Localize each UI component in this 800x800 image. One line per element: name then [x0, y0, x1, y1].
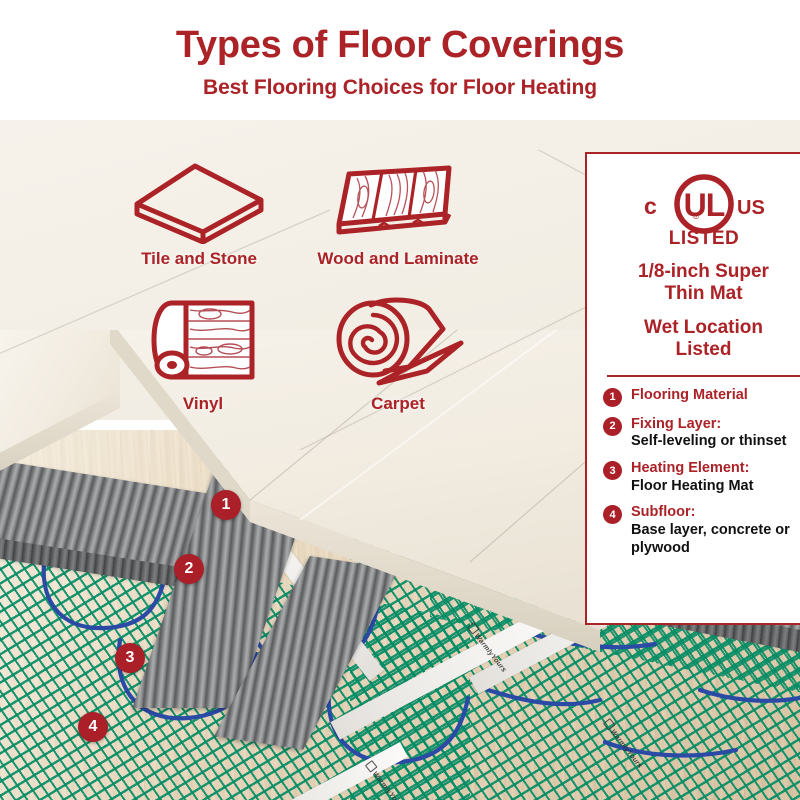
ul-letters: UL — [683, 187, 724, 223]
legend-heading: Fixing Layer: — [631, 416, 800, 434]
ul-listed-mark-wrap: c UL ® US LISTED — [603, 172, 800, 253]
badge-1-flooring-material: 1 — [211, 490, 241, 520]
legend-number-badge: 4 — [603, 505, 622, 524]
flooring-type-wood-and-laminate[interactable]: Wood and Laminate — [300, 160, 496, 269]
legend-item-1: 1 Flooring Material — [603, 387, 800, 407]
flooring-type-tile-and-stone[interactable]: Tile and Stone — [118, 160, 280, 269]
legend-heading: Heating Element: — [631, 460, 800, 478]
legend-description: Floor Heating Mat — [631, 478, 800, 496]
badge-3-heating-element: 3 — [115, 643, 145, 673]
panel-heading-line: Listed — [676, 339, 732, 360]
legend-item-3: 3 Heating Element: Floor Heating Mat — [603, 460, 800, 495]
panel-divider — [607, 375, 800, 377]
legend-heading: Flooring Material — [631, 387, 800, 405]
page-subtitle: Best Flooring Choices for Floor Heating — [0, 76, 800, 99]
ul-c-mark: c — [644, 193, 657, 219]
legend-description: Base layer, concrete or plywood — [631, 522, 800, 557]
infographic-root: WarmlyYours WarmlyYours WarmlyYours Warm… — [0, 0, 800, 800]
legend-text: Fixing Layer: Self-leveling or thinset — [631, 416, 800, 451]
carpet-roll-icon — [323, 295, 473, 389]
flooring-type-label: Carpet — [308, 395, 488, 414]
panel-heading-line: Wet Location — [644, 317, 763, 338]
legend-description: Self-leveling or thinset — [631, 433, 800, 451]
flooring-type-vinyl[interactable]: Vinyl — [128, 295, 278, 414]
header: Types of Floor Coverings Best Flooring C… — [0, 0, 800, 99]
legend-text: Subfloor: Base layer, concrete or plywoo… — [631, 504, 800, 557]
flooring-type-carpet[interactable]: Carpet — [308, 295, 488, 414]
layer-legend-list: 1 Flooring Material 2 Fixing Layer: Self… — [603, 387, 800, 558]
panel-heading-wet-location: Wet Location Listed — [603, 317, 800, 362]
flooring-type-label: Wood and Laminate — [300, 250, 496, 269]
legend-number-badge: 1 — [603, 388, 622, 407]
ul-listed-text: LISTED — [668, 228, 739, 248]
ul-listed-mark-icon: c UL ® US LISTED — [638, 172, 770, 248]
legend-number-badge: 3 — [603, 461, 622, 480]
ul-us-mark: US — [737, 197, 765, 219]
panel-heading-line: 1/8-inch Super — [638, 261, 769, 282]
panel-heading-line: Thin Mat — [664, 283, 742, 304]
vinyl-roll-icon — [144, 295, 262, 389]
badge-2-fixing-layer: 2 — [174, 554, 204, 584]
flooring-type-label: Tile and Stone — [118, 250, 280, 269]
panel-heading-thin-mat: 1/8-inch Super Thin Mat — [603, 261, 800, 306]
certification-panel: c UL ® US LISTED 1/8-inch Super Thin Mat… — [585, 152, 800, 625]
flooring-type-label: Vinyl — [128, 395, 278, 414]
legend-text: Heating Element: Floor Heating Mat — [631, 460, 800, 495]
legend-heading: Subfloor: — [631, 504, 800, 522]
legend-text: Flooring Material — [631, 387, 800, 405]
registered-mark: ® — [692, 211, 699, 221]
badge-4-subfloor: 4 — [78, 712, 108, 742]
wood-plank-icon — [323, 160, 473, 244]
tile-slab-icon — [129, 160, 269, 244]
legend-item-2: 2 Fixing Layer: Self-leveling or thinset — [603, 416, 800, 451]
legend-item-4: 4 Subfloor: Base layer, concrete or plyw… — [603, 504, 800, 557]
page-title: Types of Floor Coverings — [0, 26, 800, 66]
legend-number-badge: 2 — [603, 417, 622, 436]
